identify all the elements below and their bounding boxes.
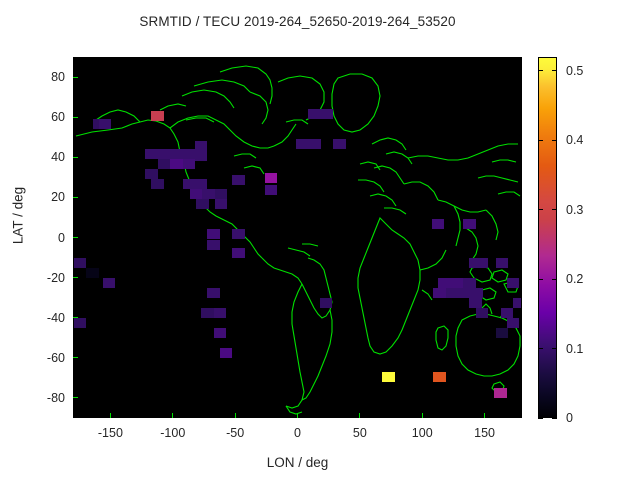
heatmap-cell — [232, 248, 244, 258]
x-tick-label: -50 — [226, 426, 244, 440]
heatmap-cell — [296, 139, 308, 149]
heatmap-cell — [496, 328, 508, 338]
colorbar-tick-mark — [538, 418, 543, 419]
heatmap-cell — [232, 229, 244, 239]
colorbar-tick-label: 0.4 — [566, 133, 583, 147]
x-tick-label: -150 — [98, 426, 123, 440]
heatmap-cell — [469, 298, 481, 308]
heatmap-cell — [201, 308, 213, 318]
x-tick-mark — [422, 413, 423, 418]
y-tick-mark — [73, 117, 78, 118]
heatmap-cell — [451, 278, 463, 288]
heatmap-cell — [195, 179, 207, 189]
y-tick-mark — [73, 197, 78, 198]
heatmap-cell — [265, 173, 277, 183]
y-tick-label: -80 — [33, 391, 65, 405]
heatmap-cell — [433, 288, 445, 298]
heatmap-cell — [74, 318, 86, 328]
heatmap-cell — [145, 169, 157, 179]
x-tick-mark — [359, 413, 360, 418]
heatmap-cell — [202, 189, 214, 199]
heatmap-cell — [195, 151, 207, 161]
heatmap-cell — [103, 278, 115, 288]
y-tick-label: 60 — [33, 110, 65, 124]
heatmap-cell — [207, 229, 219, 239]
y-tick-label: -20 — [33, 271, 65, 285]
colorbar-tick-label: 0.3 — [566, 203, 583, 217]
heatmap-cell — [190, 189, 202, 199]
y-tick-label: -40 — [33, 311, 65, 325]
x-tick-mark — [110, 413, 111, 418]
heatmap-cell — [207, 288, 219, 298]
heatmap-cells-layer — [74, 58, 522, 418]
x-tick-label: 150 — [474, 426, 495, 440]
colorbar-tick-mark — [538, 348, 543, 349]
colorbar-tick-label: 0 — [566, 411, 573, 425]
heatmap-cell — [308, 139, 320, 149]
colorbar-tick-mark — [552, 348, 557, 349]
heatmap-cell — [158, 149, 170, 159]
x-axis-label: LON / deg — [73, 455, 522, 470]
y-tick-label: 80 — [33, 70, 65, 84]
heatmap-cell — [86, 268, 98, 278]
x-tick-label: 50 — [353, 426, 367, 440]
heatmap-cell — [433, 372, 445, 382]
y-tick-mark — [73, 277, 78, 278]
heatmap-cell — [214, 328, 226, 338]
heatmap-cell — [458, 288, 470, 298]
colorbar-tick-label: 0.2 — [566, 272, 583, 286]
heatmap-cell — [220, 348, 232, 358]
colorbar-tick-mark — [552, 279, 557, 280]
heatmap-cell — [432, 219, 444, 229]
heatmap-cell — [99, 119, 111, 129]
heatmap-cell — [183, 179, 195, 189]
heatmap-cell — [494, 388, 506, 398]
heatmap-cell — [151, 179, 163, 189]
heatmap-cell — [215, 189, 227, 199]
colorbar-tick-mark — [538, 209, 543, 210]
heatmap-cell — [501, 308, 513, 318]
y-axis-label: LAT / deg — [11, 136, 26, 296]
heatmap-cell — [463, 278, 475, 288]
heatmap-cell — [476, 258, 488, 268]
x-tick-mark — [235, 413, 236, 418]
colorbar-gradient[interactable] — [538, 57, 557, 418]
y-tick-mark — [73, 357, 78, 358]
x-tick-label: 100 — [412, 426, 433, 440]
colorbar-tick-mark — [538, 279, 543, 280]
y-tick-mark — [73, 237, 78, 238]
figure-canvas: SRMTID / TECU 2019-264_52650-2019-264_53… — [0, 0, 640, 480]
x-tick-label: 0 — [294, 426, 301, 440]
x-tick-mark — [172, 413, 173, 418]
heatmap-cell — [215, 199, 227, 209]
heatmap-cell — [320, 298, 332, 308]
heatmap-cell — [382, 372, 394, 382]
heatmap-cell — [308, 109, 320, 119]
heatmap-cell — [158, 159, 170, 169]
colorbar-tick-mark — [538, 140, 543, 141]
heatmap-cell — [496, 258, 508, 268]
heatmap-cell — [513, 298, 522, 308]
x-tick-mark — [297, 413, 298, 418]
y-tick-mark — [73, 157, 78, 158]
x-tick-mark — [484, 413, 485, 418]
heatmap-cell — [145, 149, 157, 159]
colorbar-tick-label: 0.1 — [566, 342, 583, 356]
colorbar-tick-mark — [538, 70, 543, 71]
colorbar-tick-mark — [552, 70, 557, 71]
heatmap-cell — [232, 175, 244, 185]
heatmap-cell — [74, 258, 86, 268]
heatmap-cell — [214, 308, 226, 318]
heatmap-cell — [183, 149, 195, 159]
colorbar-tick-label: 0.5 — [566, 64, 583, 78]
heatmap-cell — [463, 219, 475, 229]
heatmap-cell — [196, 199, 208, 209]
heatmap-cell — [321, 109, 333, 119]
heatmap-cell — [471, 288, 483, 298]
heatmap-cell — [333, 139, 345, 149]
heatmap-cell — [170, 149, 182, 159]
y-tick-mark — [73, 317, 78, 318]
y-tick-mark — [73, 397, 78, 398]
y-tick-label: -60 — [33, 351, 65, 365]
heatmap-cell — [151, 111, 163, 121]
y-tick-mark — [73, 77, 78, 78]
colorbar-tick-mark — [552, 140, 557, 141]
y-tick-label: 0 — [33, 231, 65, 245]
heatmap-cell — [507, 318, 519, 328]
heatmap-cell — [476, 308, 488, 318]
heatmap-cell — [507, 278, 519, 288]
heatmap-cell — [195, 141, 207, 151]
heatmap-cell — [170, 159, 182, 169]
chart-title: SRMTID / TECU 2019-264_52650-2019-264_53… — [0, 14, 595, 29]
colorbar-tick-mark — [552, 209, 557, 210]
y-tick-label: 40 — [33, 150, 65, 164]
heatmap-cell — [265, 185, 277, 195]
heatmap-cell — [446, 288, 458, 298]
heatmap-cell — [438, 278, 450, 288]
colorbar-tick-mark — [552, 418, 557, 419]
map-plot-area[interactable] — [73, 57, 522, 418]
x-tick-label: -100 — [160, 426, 185, 440]
heatmap-cell — [207, 240, 219, 250]
heatmap-cell — [183, 159, 195, 169]
y-tick-label: 20 — [33, 190, 65, 204]
